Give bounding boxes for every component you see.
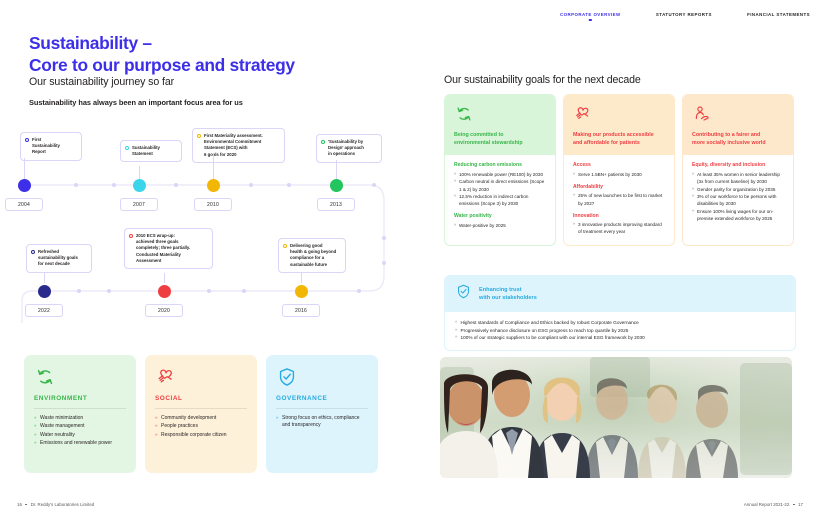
- timeline-year-2007: 2007: [120, 198, 158, 211]
- list-item: At least 35% women in senior leadership …: [692, 171, 784, 185]
- goal-card-title: Contributing to a fairer and more social…: [692, 132, 784, 147]
- photo-illustration: [440, 357, 792, 478]
- divider: [34, 408, 126, 409]
- timeline-marker-icon: [125, 146, 129, 150]
- timeline-card-2016[interactable]: Delivering good health & going beyond co…: [278, 238, 346, 273]
- timeline-card-2010[interactable]: First Materiality assessment. Environmen…: [192, 128, 285, 163]
- goal-section-title: Innovation: [573, 213, 665, 219]
- goal-section: Reducing carbon emissions 100% renewable…: [454, 162, 546, 207]
- timeline-dot-2022[interactable]: [38, 285, 51, 298]
- timeline-marker-icon: [197, 134, 201, 138]
- bullet-separator-icon: [25, 504, 27, 506]
- goal-section-title: Equity, diversity and inclusion: [692, 162, 784, 168]
- esg-card-environment: ENVIRONMENT Waste minimization Waste man…: [24, 355, 136, 473]
- list-item: 100% renewable power (RE100) by 2030: [454, 171, 546, 178]
- page-subtitle: Our sustainability journey so far: [29, 76, 174, 88]
- footer-company-name: Dr. Reddy's Laboratories Limited: [31, 502, 95, 507]
- goal-cards-row: Being committed to environmental steward…: [444, 94, 794, 246]
- footer-right: Annual Report 2021-22 17: [744, 502, 803, 507]
- list-item: People practices: [155, 423, 247, 431]
- list-item: Strong focus on ethics, compliance and t…: [276, 415, 368, 430]
- goal-section-list: 3 innovative products improving standard…: [573, 221, 665, 235]
- esg-card-list: Strong focus on ethics, compliance and t…: [276, 415, 368, 430]
- timeline-card-2007[interactable]: Sustainability Statement: [120, 140, 182, 162]
- goal-section-list: At least 35% women in senior leadership …: [692, 171, 784, 222]
- list-item: Waste management: [34, 423, 126, 431]
- goal-card-fairer-inclusive-world: Contributing to a fairer and more social…: [682, 94, 794, 246]
- timeline-marker-icon: [31, 250, 35, 254]
- goal-section: Innovation 3 innovative products improvi…: [573, 213, 665, 236]
- goal-card-body: Equity, diversity and inclusion At least…: [683, 155, 793, 245]
- person-care-icon: [692, 104, 784, 124]
- shield-check-icon: [276, 366, 368, 388]
- handshake-heart-icon: [155, 366, 247, 388]
- timeline-year-2020: 2020: [145, 304, 183, 317]
- shield-check-icon: [455, 283, 472, 305]
- list-item: Ensure 100% living wages for our on-prem…: [692, 208, 784, 222]
- timeline-connector: [24, 158, 25, 179]
- timeline-card-label: Delivering good health & going beyond co…: [290, 243, 336, 267]
- divider: [276, 408, 368, 409]
- goal-section: Equity, diversity and inclusion At least…: [692, 162, 784, 222]
- timeline-year-2004: 2004: [5, 198, 43, 211]
- list-item: Highest standards of Compliance and Ethi…: [455, 319, 785, 327]
- timeline-card-label: Refreshed sustainability goals for next …: [38, 249, 78, 266]
- timeline-connector: [336, 160, 337, 179]
- esg-card-governance: GOVERNANCE Strong focus on ethics, compl…: [266, 355, 378, 473]
- timeline-dot-2020[interactable]: [158, 285, 171, 298]
- list-item: 3 innovative products improving standard…: [573, 221, 665, 235]
- left-page: Sustainability – Core to our purpose and…: [0, 0, 420, 519]
- list-item: Community development: [155, 415, 247, 423]
- timeline-year-2016: 2016: [282, 304, 320, 317]
- timeline-card-label: 2010 ECS wrap-up: achieved three goals c…: [136, 233, 190, 263]
- list-item: Water neutrality: [34, 432, 126, 440]
- list-item: 25% of new launches to be first to marke…: [573, 192, 665, 206]
- trust-card-body: Highest standards of Compliance and Ethi…: [445, 312, 795, 350]
- divider: [155, 408, 247, 409]
- list-item: Water-positive by 2025: [454, 222, 546, 229]
- trust-card: Enhancing trust with our stakeholders Hi…: [444, 275, 796, 351]
- bullet-separator-icon: [793, 504, 795, 506]
- list-item: Serve 1.5BN+ patients by 2030: [573, 171, 665, 178]
- esg-card-title: ENVIRONMENT: [34, 395, 126, 408]
- trust-card-list: Highest standards of Compliance and Ethi…: [455, 319, 785, 342]
- list-item: Progressively enhance disclosure on ESG …: [455, 327, 785, 335]
- goal-card-header: Making our products accessible and affor…: [564, 95, 674, 155]
- esg-card-title: SOCIAL: [155, 395, 247, 408]
- timeline-dot-2007[interactable]: [133, 179, 146, 192]
- timeline-connector: [139, 166, 140, 179]
- list-item: Responsible corporate citizen: [155, 432, 247, 440]
- timeline-connector: [213, 154, 214, 179]
- list-item: Gender parity for organization by 2035: [692, 186, 784, 193]
- esg-card-social: SOCIAL Community development People prac…: [145, 355, 257, 473]
- goal-section-list: 25% of new launches to be first to marke…: [573, 192, 665, 206]
- goal-card-body: Access Serve 1.5BN+ patients by 2030 Aff…: [564, 155, 674, 245]
- goals-section-title: Our sustainability goals for the next de…: [444, 74, 641, 86]
- timeline-marker-icon: [321, 140, 325, 144]
- timeline-connector: [164, 273, 165, 283]
- handshake-heart-icon: [573, 104, 665, 124]
- goal-card-environmental-stewardship: Being committed to environmental steward…: [444, 94, 556, 246]
- page-title-line-1: Sustainability –: [29, 33, 295, 55]
- recycle-arrows-icon: [34, 366, 126, 388]
- list-item: 100% of our strategic suppliers to be co…: [455, 334, 785, 342]
- recycle-arrows-icon: [454, 104, 546, 124]
- esg-card-title: GOVERNANCE: [276, 395, 368, 408]
- goal-card-header: Contributing to a fairer and more social…: [683, 95, 793, 155]
- page-number-left: 16: [17, 502, 22, 507]
- list-item: Emissions and renewable power: [34, 440, 126, 448]
- page-number-right: 17: [798, 502, 803, 507]
- timeline-card-2013[interactable]: 'Sustainability by Design' approach in o…: [316, 134, 382, 163]
- goal-card-title: Being committed to environmental steward…: [454, 132, 546, 147]
- goal-card-header: Being committed to environmental steward…: [445, 95, 555, 155]
- goal-section: Access Serve 1.5BN+ patients by 2030: [573, 162, 665, 178]
- sustainability-timeline: 2004First Sustainability Report2007Susta…: [14, 128, 406, 328]
- goal-section: Affordability 25% of new launches to be …: [573, 184, 665, 207]
- timeline-marker-icon: [283, 244, 287, 248]
- timeline-card-2022[interactable]: Refreshed sustainability goals for next …: [26, 244, 92, 273]
- list-item: Waste minimization: [34, 415, 126, 423]
- timeline-marker-icon: [129, 234, 133, 238]
- timeline-year-2013: 2013: [317, 198, 355, 211]
- timeline-card-label: Sustainability Statement: [132, 145, 160, 156]
- footer-left: 16 Dr. Reddy's Laboratories Limited: [17, 502, 94, 507]
- timeline-dot-2010[interactable]: [207, 179, 220, 192]
- timeline-dot-2016[interactable]: [295, 285, 308, 298]
- business-team-photo: [440, 357, 792, 478]
- timeline-year-2010: 2010: [194, 198, 232, 211]
- page-title: Sustainability – Core to our purpose and…: [29, 33, 295, 77]
- goal-section-list: Water-positive by 2025: [454, 222, 546, 229]
- goal-card-title: Making our products accessible and affor…: [573, 132, 665, 147]
- goal-card-body: Reducing carbon emissions 100% renewable…: [445, 155, 555, 245]
- goal-section-list: 100% renewable power (RE100) by 2030 Car…: [454, 171, 546, 208]
- timeline-dot-2013[interactable]: [330, 179, 343, 192]
- timeline-card-label: 'Sustainability by Design' approach in o…: [328, 139, 364, 156]
- timeline-card-2004[interactable]: First Sustainability Report: [20, 132, 82, 161]
- goal-section-title: Affordability: [573, 184, 665, 190]
- timeline-connector: [44, 273, 45, 283]
- goal-section-title: Reducing carbon emissions: [454, 162, 546, 168]
- list-item: Carbon neutral in direct emissions (Scop…: [454, 178, 546, 192]
- goal-section-title: Water positivity: [454, 213, 546, 219]
- timeline-dot-2004[interactable]: [18, 179, 31, 192]
- page-title-line-2: Core to our purpose and strategy: [29, 55, 295, 77]
- esg-card-list: Waste minimization Waste management Wate…: [34, 415, 126, 448]
- trust-card-title: Enhancing trust with our stakeholders: [479, 286, 537, 302]
- goal-section: Water positivity Water-positive by 2025: [454, 213, 546, 229]
- goal-section-list: Serve 1.5BN+ patients by 2030: [573, 171, 665, 178]
- goal-section-title: Access: [573, 162, 665, 168]
- list-item: 3% of our workforce to be persons with d…: [692, 193, 784, 207]
- timeline-card-label: First Sustainability Report: [32, 137, 60, 154]
- timeline-year-2022: 2022: [25, 304, 63, 317]
- timeline-connector: [301, 273, 302, 283]
- trust-card-header: Enhancing trust with our stakeholders: [445, 276, 795, 312]
- footer-report-name: Annual Report 2021-22: [744, 502, 789, 507]
- list-item: 12.5% reduction in indirect carbon emiss…: [454, 193, 546, 207]
- esg-cards-row: ENVIRONMENT Waste minimization Waste man…: [24, 355, 378, 473]
- timeline-marker-icon: [25, 138, 29, 142]
- goal-card-accessible-affordable: Making our products accessible and affor…: [563, 94, 675, 246]
- page-lede: Sustainability has always been an import…: [29, 98, 243, 107]
- esg-card-list: Community development People practices R…: [155, 415, 247, 440]
- timeline-card-2020[interactable]: 2010 ECS wrap-up: achieved three goals c…: [124, 228, 213, 269]
